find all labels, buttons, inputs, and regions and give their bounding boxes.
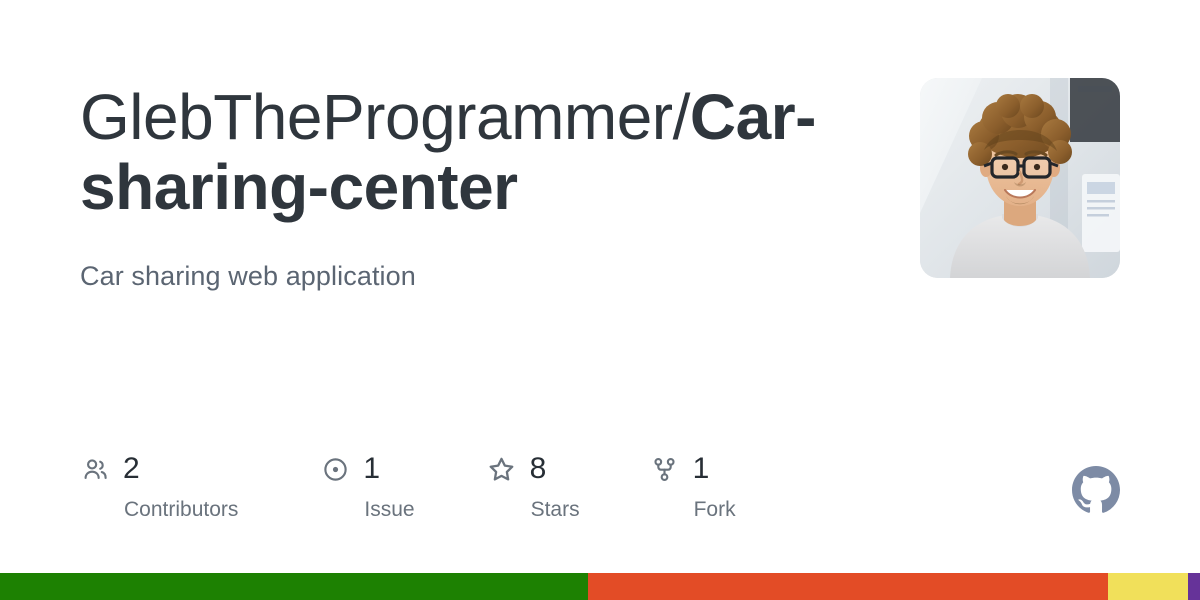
- stat-stars-top: 8: [487, 452, 547, 486]
- repo-forked-icon: [650, 454, 680, 484]
- language-segment-orange: [588, 573, 1108, 600]
- stat-issues-label: Issue: [320, 498, 414, 522]
- github-mark-icon: [1072, 466, 1120, 514]
- stat-issues-value: 1: [363, 454, 380, 484]
- stat-forks-label: Fork: [650, 498, 736, 522]
- stat-forks-value: 1: [693, 454, 710, 484]
- stat-contributors[interactable]: 2 Contributors: [80, 452, 238, 522]
- header: GlebTheProgrammer/Car-sharing-center Car…: [80, 78, 1120, 293]
- stat-contributors-label: Contributors: [80, 498, 238, 522]
- repo-separator: /: [673, 81, 690, 153]
- stat-forks-top: 1: [650, 452, 710, 486]
- title-block: GlebTheProgrammer/Car-sharing-center Car…: [80, 78, 870, 293]
- issue-opened-icon: [320, 454, 350, 484]
- stat-contributors-top: 2: [80, 452, 140, 486]
- stat-stars-label: Stars: [487, 498, 580, 522]
- language-segment-yellow: [1108, 573, 1188, 600]
- repository-social-preview-card: GlebTheProgrammer/Car-sharing-center Car…: [0, 0, 1200, 600]
- stat-contributors-value: 2: [123, 454, 140, 484]
- page-title: GlebTheProgrammer/Car-sharing-center: [80, 82, 870, 222]
- language-bar: [0, 573, 1200, 600]
- stats-row: 2 Contributors 1 Issue: [80, 452, 1120, 522]
- repo-owner[interactable]: GlebTheProgrammer: [80, 81, 673, 153]
- owner-avatar-photo: [920, 78, 1120, 278]
- star-icon: [487, 454, 517, 484]
- repo-description: Car sharing web application: [80, 222, 870, 293]
- stat-stars[interactable]: 8 Stars: [487, 452, 580, 522]
- stat-forks[interactable]: 1 Fork: [650, 452, 736, 522]
- language-segment-green: [0, 573, 588, 600]
- language-segment-purple: [1188, 573, 1200, 600]
- avatar: [920, 78, 1120, 278]
- stat-stars-value: 8: [530, 454, 547, 484]
- stat-issues[interactable]: 1 Issue: [320, 452, 414, 522]
- stat-issues-top: 1: [320, 452, 380, 486]
- people-icon: [80, 454, 110, 484]
